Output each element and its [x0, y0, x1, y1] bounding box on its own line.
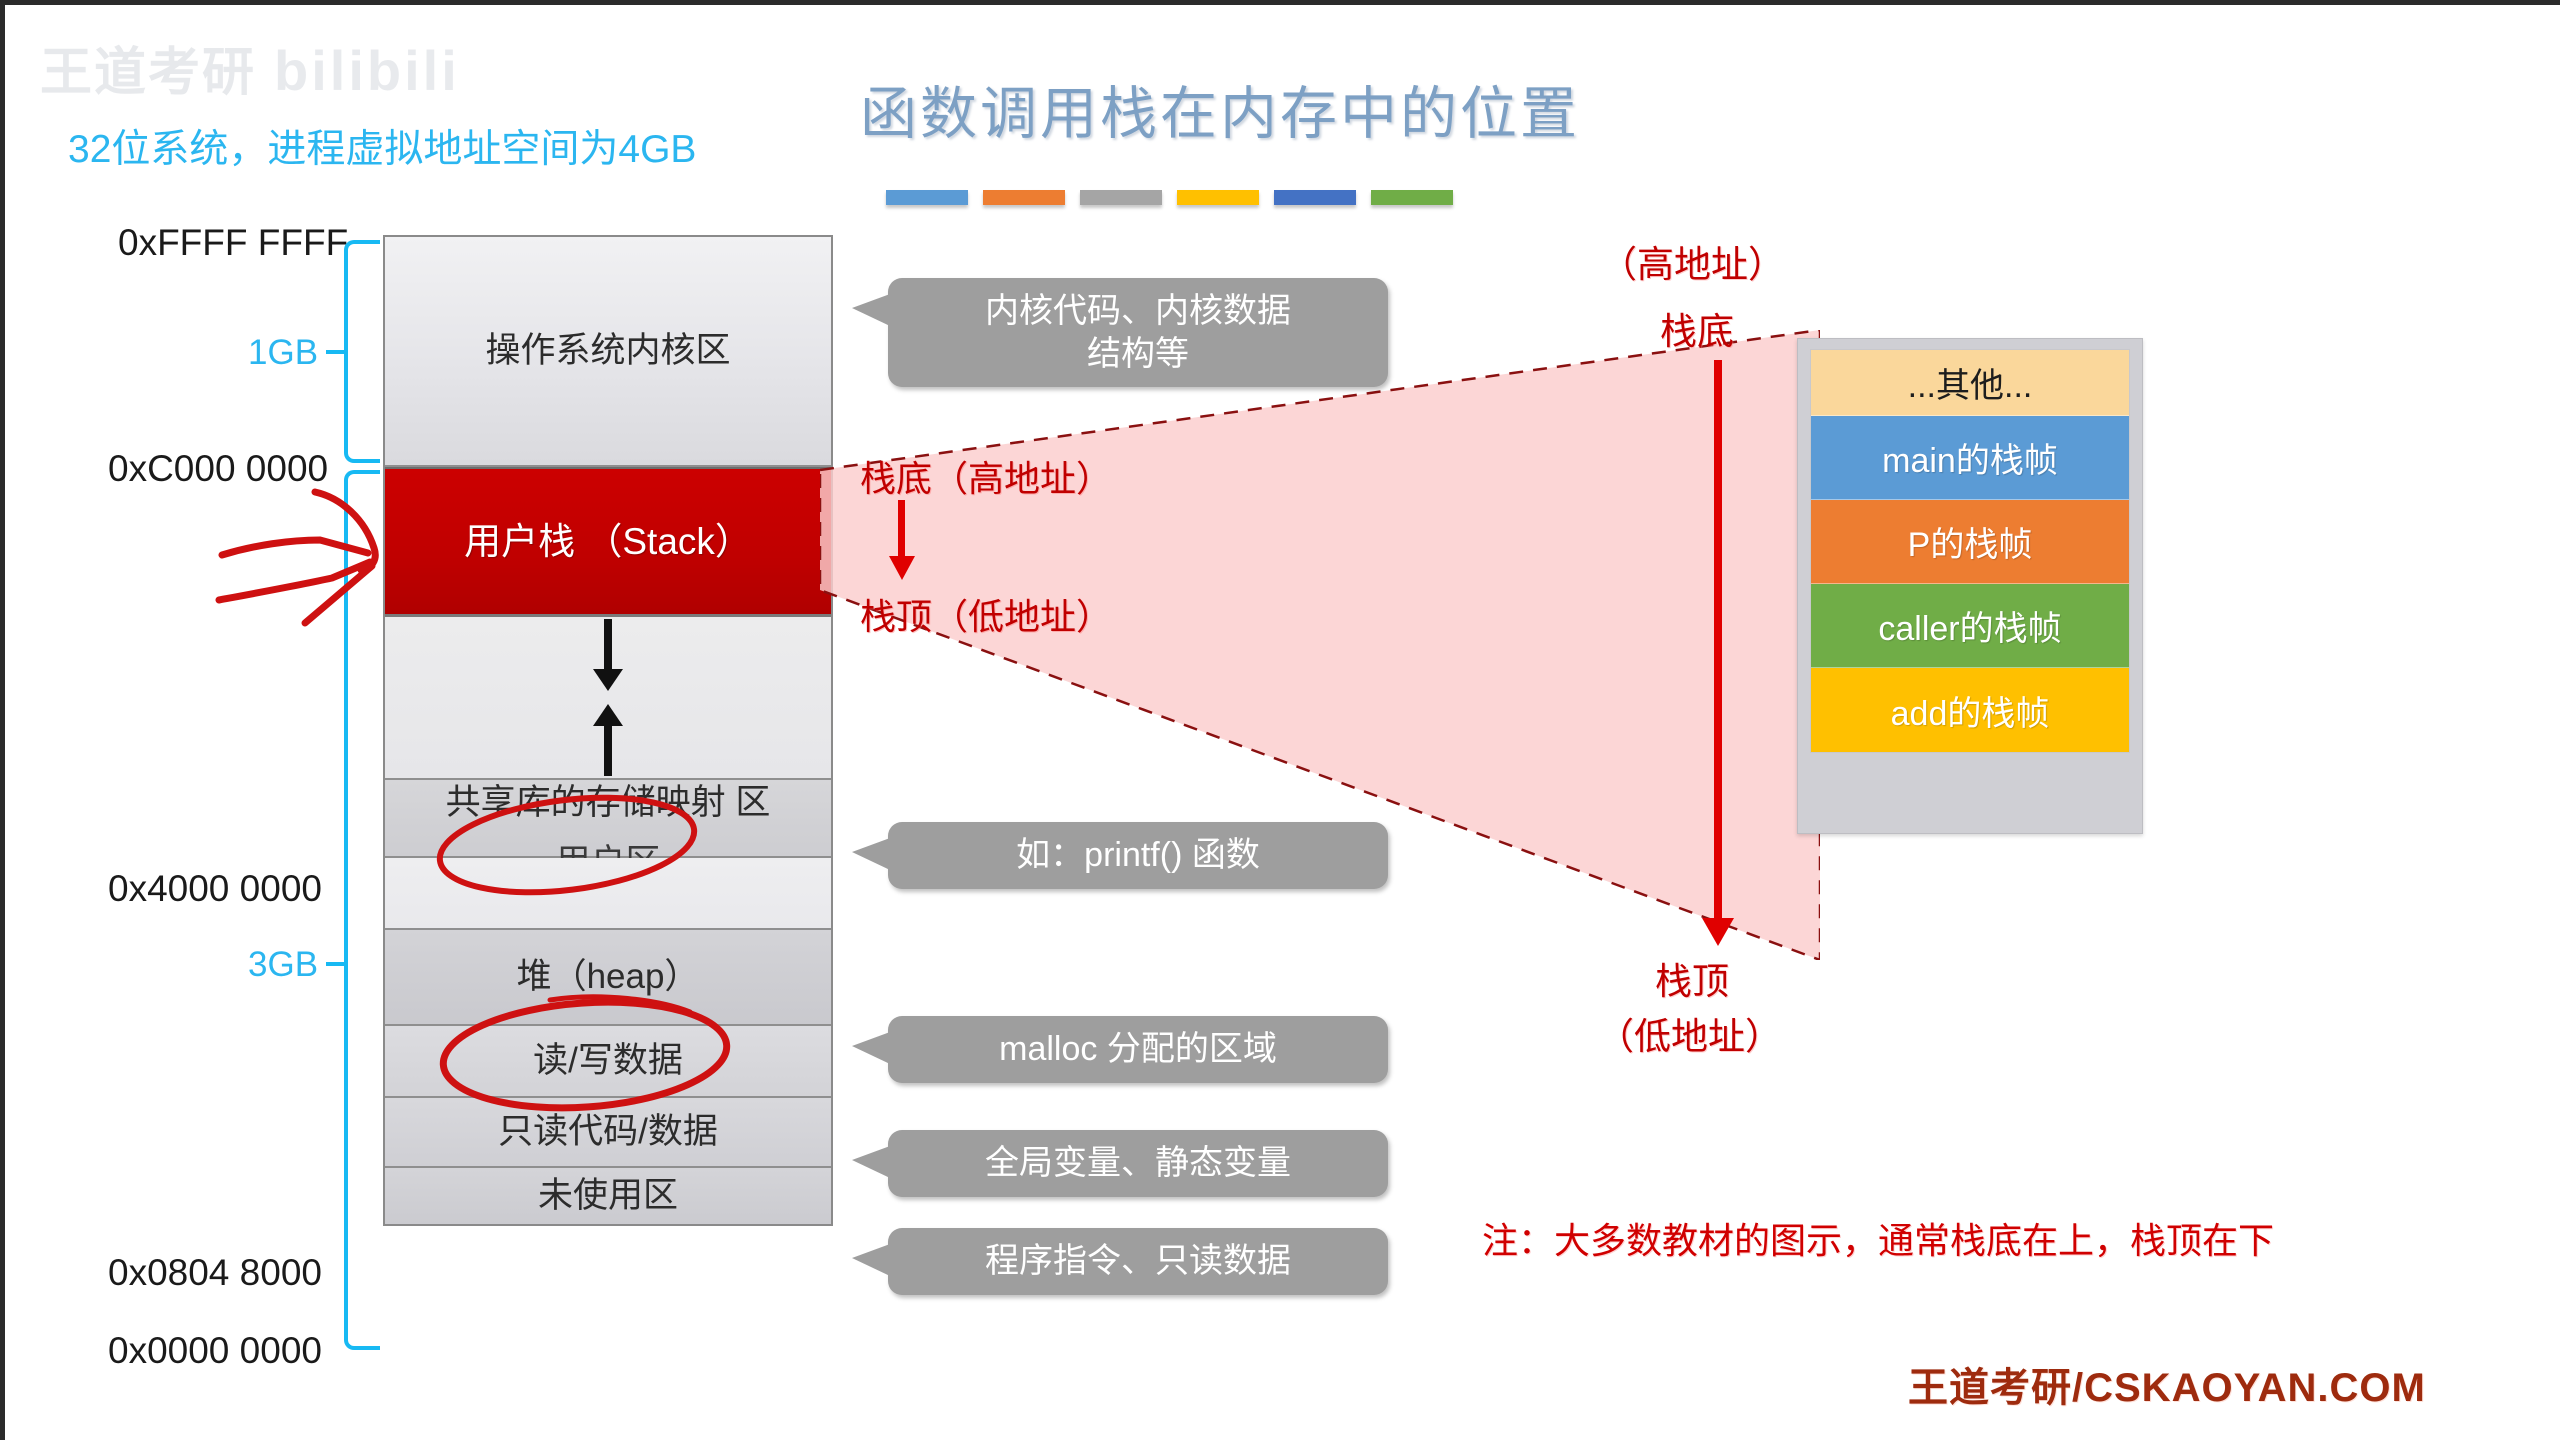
bar-navy [1274, 190, 1356, 205]
virtual-address-space-map: 操作系统内核区 用户栈 （Stack） 共享库的存储映射 区 用户区 堆（hea… [383, 235, 833, 1226]
mem-block-label: 只读代码/数据 [498, 1111, 718, 1152]
mem-block-user-stack: 用户栈 （Stack） [385, 467, 831, 617]
bilibili-logo-icon: bilibili [274, 39, 460, 102]
bar-green [1371, 190, 1453, 205]
bar-blue [886, 190, 968, 205]
stack-frame-main: main的栈帧 [1811, 416, 2129, 500]
call-stack-diagram: ...其他... main的栈帧 P的栈帧 caller的栈帧 add的栈帧 [1797, 338, 2143, 834]
watermark: 王道考研bilibili [40, 30, 660, 110]
address-label-top: 0xFFFF FFFF [118, 222, 348, 264]
wedge-label-stack-top: 栈顶（低地址） [860, 588, 1112, 640]
callout-global-static-vars: 全局变量、静态变量 [888, 1130, 1388, 1197]
mem-block-kernel-region: 操作系统内核区 [385, 237, 831, 467]
mem-block-ro-code-data: 只读代码/数据 [385, 1098, 831, 1168]
stack-grow-down-arrow-icon [604, 619, 612, 671]
address-label-text-start: 0x0804 8000 [108, 1252, 322, 1294]
annotation-low-address: （低地址） [1597, 1015, 1782, 1059]
callout-program-instructions: 程序指令、只读数据 [888, 1228, 1388, 1295]
address-label-mmap-boundary: 0x4000 0000 [108, 868, 322, 910]
bar-gray [1080, 190, 1162, 205]
wedge-label-stack-bottom: 栈底（高地址） [860, 450, 1112, 502]
mem-block-heap-region: 堆（heap） [385, 930, 831, 1026]
mem-block-label: 操作系统内核区 [485, 330, 730, 371]
page-title: 函数调用栈在内存中的位置 [860, 68, 1580, 150]
bar-orange [983, 190, 1065, 205]
mem-block-label: 用户栈 （Stack） [464, 520, 752, 564]
top-edge-border [0, 0, 2560, 5]
bracket-tick-kernel [326, 350, 344, 354]
stack-frame-other: ...其他... [1811, 350, 2129, 416]
call-stack-frames-container: ...其他... main的栈帧 P的栈帧 caller的栈帧 add的栈帧 [1810, 349, 2130, 753]
size-label-user: 3GB [248, 945, 318, 985]
title-decoration-bars [886, 190, 1453, 205]
watermark-text: 王道考研 [40, 44, 256, 102]
mem-block-unused-region: 未使用区 [385, 1168, 831, 1224]
mem-block-shared-lib-mmap: 共享库的存储映射 区 用户区 [385, 780, 831, 858]
mem-block-label: 堆（heap） [517, 956, 700, 997]
mem-block-label: 共享库的存储映射 区 [446, 782, 771, 823]
stack-frame-add: add的栈帧 [1811, 668, 2129, 752]
annotation-stack-base: 栈底 [1660, 310, 1734, 354]
address-label-kernel-boundary: 0xC000 0000 [108, 448, 328, 490]
bracket-kernel-1gb [344, 240, 380, 463]
stack-growth-direction-arrow-icon [1714, 360, 1722, 920]
bracket-tick-user [326, 962, 344, 966]
wedge-growth-arrow-icon [898, 500, 905, 558]
callout-kernel-contents: 内核代码、内核数据 结构等 [888, 278, 1388, 387]
stack-frame-p: P的栈帧 [1811, 500, 2129, 584]
mem-block-label: 读/写数据 [533, 1040, 683, 1081]
mem-block-label: 未使用区 [538, 1175, 678, 1216]
address-label-zero: 0x0000 0000 [108, 1330, 322, 1372]
callout-printf-example: 如：printf() 函数 [888, 822, 1388, 889]
bar-gold [1177, 190, 1259, 205]
callout-malloc-region: malloc 分配的区域 [888, 1016, 1388, 1083]
heap-grow-up-arrow-icon [604, 724, 612, 776]
stack-frame-caller: caller的栈帧 [1811, 584, 2129, 668]
annotation-high-address: （高地址） [1600, 243, 1785, 287]
footnote-note: 注：大多数教材的图示，通常栈底在上，栈顶在下 [1482, 1212, 2274, 1264]
mem-block-stack-heap-gap [385, 617, 831, 780]
left-edge-border [0, 0, 5, 1440]
annotation-stack-top: 栈顶 [1655, 960, 1729, 1004]
bracket-user-3gb [344, 470, 380, 1350]
brand-watermark: 王道考研/CSKAOYAN.COM [1908, 1355, 2426, 1413]
mem-block-user-region [385, 858, 831, 930]
slide-canvas: 王道考研bilibili 32位系统，进程虚拟地址空间为4GB 函数调用栈在内存… [0, 0, 2560, 1440]
size-label-kernel: 1GB [248, 333, 318, 373]
mem-block-rw-data: 读/写数据 [385, 1026, 831, 1098]
subtitle: 32位系统，进程虚拟地址空间为4GB [68, 118, 696, 174]
